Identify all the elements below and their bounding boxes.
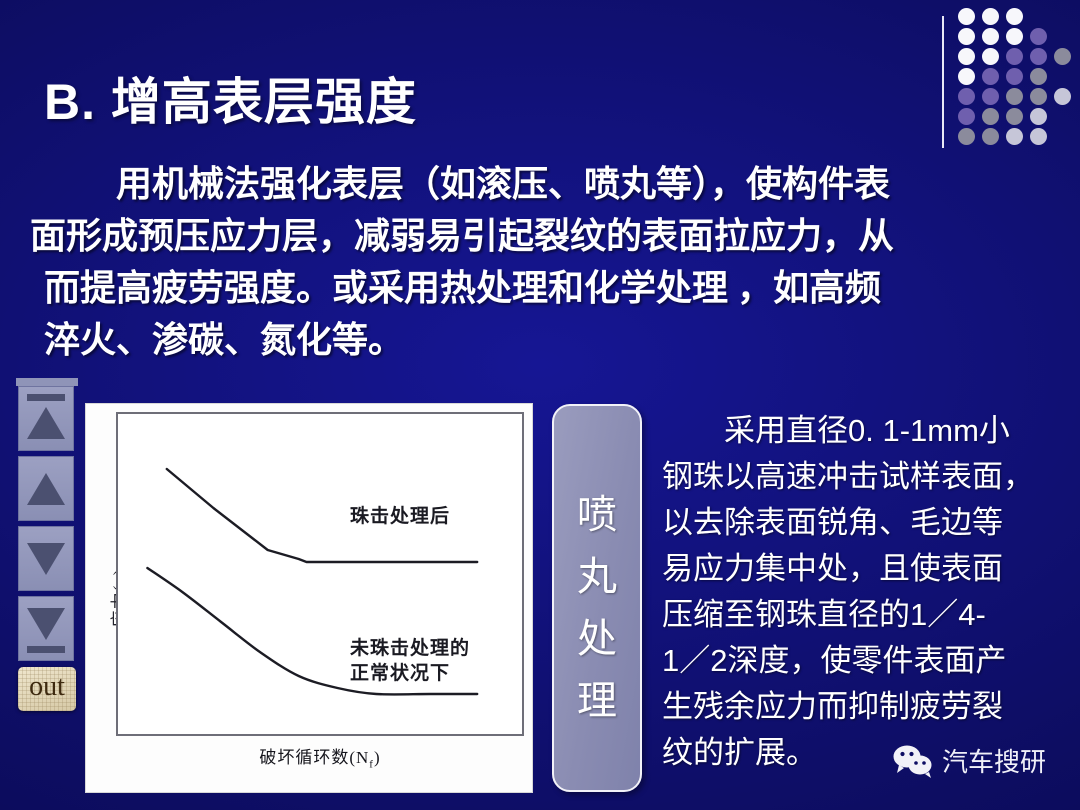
chart-curves [118, 414, 522, 734]
chart-plot-area: 珠击处理后 未珠击处理的 正常状况下 [116, 412, 524, 736]
right-line: 易应力集中处，且使表面 [662, 546, 1074, 592]
dot-grid-dot [1030, 128, 1047, 145]
vertical-caption-box: 喷 丸 处 理 [552, 404, 642, 792]
dot-grid-dot [1006, 88, 1023, 105]
x-axis-label-tail: ) [374, 748, 381, 767]
dot-grid-dot [1030, 108, 1047, 125]
chart-annotation-unpeened: 未珠击处理的 正常状况下 [350, 636, 470, 686]
slide-canvas: B. 增高表层强度 用机械法强化表层（如滚压、喷丸等），使构件表 面形成预压应力… [0, 0, 1080, 810]
triangle-up-icon [27, 473, 65, 505]
scroll-up-button[interactable] [18, 456, 74, 521]
vertical-caption-text: 喷 丸 处 理 [554, 484, 640, 732]
dot-grid-dot [1006, 128, 1023, 145]
bar-glyph [27, 394, 65, 401]
annotation-text: 珠击处理后 [350, 506, 450, 527]
body-line: 淬火、渗碳、氮化等。 [30, 314, 1070, 366]
out-button[interactable]: out [18, 667, 76, 711]
vertical-caption-char: 喷 [554, 484, 640, 546]
body-line: 用机械法强化表层（如滚压、喷丸等），使构件表 [30, 158, 1070, 210]
out-button-label: out [18, 671, 76, 703]
triangle-up-with-bar-icon [27, 407, 65, 439]
vertical-caption-char: 丸 [554, 546, 640, 608]
dot-grid-dot [958, 88, 975, 105]
dot-grid-dot [1006, 108, 1023, 125]
dot-grid-dot [982, 8, 999, 25]
scroll-down-button[interactable] [18, 526, 74, 591]
right-line: 生残余应力而抑制疲劳裂 [662, 684, 1074, 730]
dot-grid-dot [1006, 48, 1023, 65]
x-axis-label-text: 破坏循环数(N [259, 748, 369, 767]
dot-grid-dot [1030, 88, 1047, 105]
dot-grid-dot [958, 28, 975, 45]
chart-x-axis-label: 破坏循环数(Nf) [116, 743, 524, 770]
body-paragraph: 用机械法强化表层（如滚压、喷丸等），使构件表 面形成预压应力层，减弱易引起裂纹的… [30, 158, 1070, 366]
dot-grid-dot [958, 108, 975, 125]
right-line: 钢珠以高速冲击试样表面， [662, 454, 1074, 500]
body-line: 而提高疲劳强度。或采用热处理和化学处理 ，如高频 [30, 262, 1070, 314]
dot-grid-dot [1006, 68, 1023, 85]
scroll-control-stack[interactable]: out [16, 386, 78, 711]
right-line: 1／2深度，使零件表面产 [662, 638, 1074, 684]
annotation-text: 正常状况下 [350, 661, 470, 686]
decorative-vertical-rule [942, 16, 944, 148]
vertical-caption-char: 理 [554, 670, 640, 732]
dot-grid-dot [982, 48, 999, 65]
triangle-down-with-bar-icon [27, 608, 65, 640]
dot-grid-dot [1006, 28, 1023, 45]
dot-grid-dot [982, 28, 999, 45]
chart-annotation-peened: 珠击处理后 [350, 504, 450, 529]
dot-grid-dot [1030, 28, 1047, 45]
dot-grid-dot [958, 68, 975, 85]
scroll-bottom-button[interactable] [18, 596, 74, 661]
dot-grid-dot [1054, 48, 1071, 65]
dot-grid-dot [958, 8, 975, 25]
right-line: 以去除表面锐角、毛边等 [662, 500, 1074, 546]
dot-grid-dot [982, 88, 999, 105]
scrollbar-track[interactable] [16, 378, 78, 386]
dot-grid-dot [1006, 8, 1023, 25]
dot-grid [958, 8, 1076, 150]
vertical-caption-char: 处 [554, 608, 640, 670]
bar-glyph [27, 646, 65, 653]
watermark: 汽车搜研 [892, 742, 1046, 779]
watermark-text: 汽车搜研 [942, 742, 1046, 779]
right-paragraph: 采用直径0. 1-1mm小 钢珠以高速冲击试样表面， 以去除表面锐角、毛边等 易… [662, 408, 1074, 776]
dot-grid-dot [982, 68, 999, 85]
body-line: 面形成预压应力层，减弱易引起裂纹的表面拉应力，从 [30, 210, 1070, 262]
dot-grid-dot [1030, 48, 1047, 65]
dot-grid-dot [958, 48, 975, 65]
scroll-top-button[interactable] [18, 386, 74, 451]
dot-grid-dot [982, 108, 999, 125]
chart-panel: 应力(σ) 珠击处理后 未珠击处理的 正常状况下 破坏循环数(Nf) [86, 404, 532, 792]
dot-grid-dot [1054, 88, 1071, 105]
right-line: 采用直径0. 1-1mm小 [662, 408, 1074, 454]
dot-grid-dot [1030, 68, 1047, 85]
right-line: 压缩至钢珠直径的1／4- [662, 592, 1074, 638]
dot-grid-dot [958, 128, 975, 145]
annotation-text: 未珠击处理的 [350, 636, 470, 661]
page-title: B. 增高表层强度 [44, 62, 417, 134]
wechat-icon [892, 744, 934, 778]
dot-grid-dot [982, 128, 999, 145]
triangle-down-icon [27, 543, 65, 575]
